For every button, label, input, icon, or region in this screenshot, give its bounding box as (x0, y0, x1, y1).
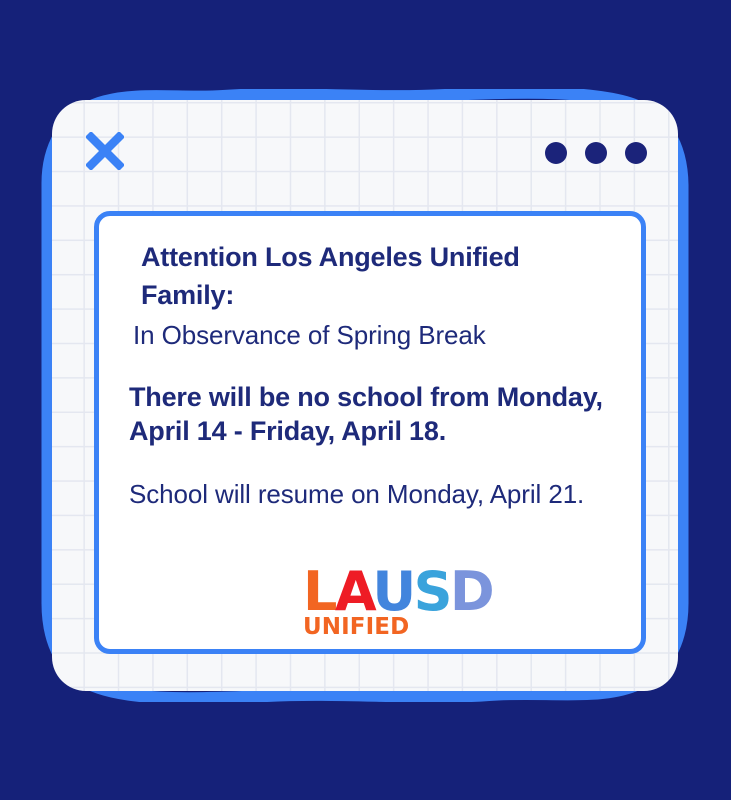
notice-headline: Attention Los Angeles Unified Family: (129, 238, 611, 315)
logo-letter-d: D (450, 560, 492, 623)
browser-window-frame: Attention Los Angeles Unified Family: In… (41, 89, 689, 702)
close-x-icon[interactable] (86, 132, 124, 170)
lausd-wordmark: LAUSD (303, 565, 503, 619)
headline-block: Attention Los Angeles Unified Family: In… (129, 238, 611, 354)
window-dot-1[interactable] (545, 142, 567, 164)
window-dot-3[interactable] (625, 142, 647, 164)
window-dot-2[interactable] (585, 142, 607, 164)
logo-letter-s: S (414, 560, 450, 623)
window-control-dots (545, 142, 647, 164)
notice-closure-dates: There will be no school from Monday, Apr… (129, 380, 611, 449)
grid-paper-surface: Attention Los Angeles Unified Family: In… (52, 100, 678, 691)
notice-subline: In Observance of Spring Break (129, 317, 611, 354)
notice-card: Attention Los Angeles Unified Family: In… (94, 211, 646, 654)
lausd-logo: LAUSD UNIFIED (303, 565, 503, 639)
window-titlebar (52, 100, 678, 200)
notice-resume-date: School will resume on Monday, April 21. (129, 478, 611, 512)
